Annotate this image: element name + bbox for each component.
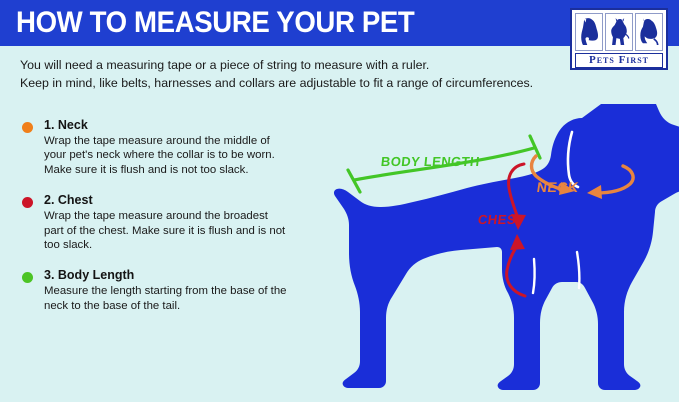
label-chest: CHEST bbox=[477, 212, 526, 227]
dog-silhouette-icon bbox=[334, 104, 679, 390]
step-body-body-length: Measure the length starting from the bas… bbox=[44, 284, 290, 313]
step-body-chest: Wrap the tape measure around the broades… bbox=[44, 209, 290, 252]
intro-line-1: You will need a measuring tape or a piec… bbox=[20, 56, 670, 74]
page-title: HOW TO MEASURE YOUR PET bbox=[16, 6, 414, 40]
step-title-body-length: 3. Body Length bbox=[44, 268, 290, 283]
step-bullet-body-length bbox=[22, 272, 33, 283]
dog-measurement-diagram: BODY LENGTH NECK CHEST bbox=[296, 104, 679, 402]
step-item-chest: 2. Chest Wrap the tape measure around th… bbox=[18, 193, 290, 252]
step-item-neck: 1. Neck Wrap the tape measure around the… bbox=[18, 118, 290, 177]
intro-text: You will need a measuring tape or a piec… bbox=[20, 56, 670, 92]
intro-line-2: Keep in mind, like belts, harnesses and … bbox=[20, 74, 670, 92]
measurement-steps-list: 1. Neck Wrap the tape measure around the… bbox=[18, 118, 290, 327]
infographic-page: HOW TO MEASURE YOUR PET bbox=[0, 0, 679, 402]
step-title-chest: 2. Chest bbox=[44, 193, 290, 208]
dog-sitting-icon bbox=[575, 13, 603, 51]
dog-standing-icon bbox=[605, 13, 633, 51]
step-item-body-length: 3. Body Length Measure the length starti… bbox=[18, 268, 290, 313]
label-body-length: BODY LENGTH bbox=[380, 154, 480, 169]
step-bullet-chest bbox=[22, 197, 33, 208]
logo-icon-row bbox=[575, 13, 663, 51]
step-title-neck: 1. Neck bbox=[44, 118, 290, 133]
step-bullet-neck bbox=[22, 122, 33, 133]
dog-sitting-alt-icon bbox=[635, 13, 663, 51]
step-body-neck: Wrap the tape measure around the middle … bbox=[44, 134, 290, 177]
label-neck: NECK bbox=[536, 179, 580, 195]
